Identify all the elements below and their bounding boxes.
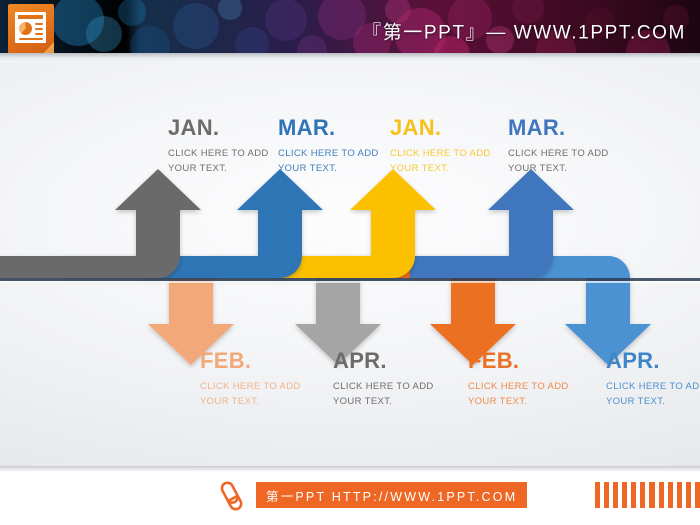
pen-icon	[217, 480, 245, 512]
logo-text-line	[19, 38, 43, 40]
footer-stripes	[595, 482, 700, 508]
footer-stripe	[604, 482, 609, 508]
month-label: FEB.	[200, 350, 301, 372]
description-line-1: CLICK HERE TO ADD	[168, 147, 269, 162]
logo-text-line	[35, 28, 43, 30]
description-line-1: CLICK HERE TO ADD	[278, 147, 379, 162]
footer-stripe	[686, 482, 691, 508]
slide-body: JAN. CLICK HERE TO ADD YOUR TEXT. MAR. C…	[0, 62, 700, 466]
banner-title: 『第一PPT』— WWW.1PPT.COM	[362, 18, 686, 45]
description-line-2: YOUR TEXT.	[200, 395, 301, 410]
arrow-up-1-gray	[0, 169, 201, 278]
arrow-up-4-blue	[410, 169, 574, 278]
timeline-label-bottom-1[interactable]: FEB. CLICK HERE TO ADD YOUR TEXT.	[200, 350, 301, 409]
footer-stripe	[668, 482, 673, 508]
description-line-2: YOUR TEXT.	[390, 162, 491, 177]
footer-url-label: 第一PPT HTTP://WWW.1PPT.COM	[256, 482, 527, 508]
timeline-label-top-1[interactable]: JAN. CLICK HERE TO ADD YOUR TEXT.	[168, 117, 269, 176]
logo-card	[15, 12, 46, 43]
baseline-highlight	[0, 281, 700, 283]
footer-stripe	[640, 482, 645, 508]
description-line-2: YOUR TEXT.	[278, 162, 379, 177]
description-line-1: CLICK HERE TO ADD	[508, 147, 609, 162]
footer-stripe	[595, 482, 600, 508]
footer-stripe	[622, 482, 627, 508]
footer-stripe	[659, 482, 664, 508]
footer-divider	[0, 466, 700, 472]
description-line-1: CLICK HERE TO ADD	[390, 147, 491, 162]
description-line-1: CLICK HERE TO ADD	[468, 380, 569, 395]
footer-stripe	[649, 482, 654, 508]
baseline-rule	[0, 278, 700, 281]
description-line-2: YOUR TEXT.	[606, 395, 700, 410]
month-label: APR.	[333, 350, 434, 372]
description-line-1: CLICK HERE TO ADD	[606, 380, 700, 395]
logo-pie-chart	[19, 22, 32, 35]
month-label: MAR.	[508, 117, 609, 139]
timeline-label-top-3[interactable]: JAN. CLICK HERE TO ADD YOUR TEXT.	[390, 117, 491, 176]
month-label: APR.	[606, 350, 700, 372]
timeline-label-bottom-2[interactable]: APR. CLICK HERE TO ADD YOUR TEXT.	[333, 350, 434, 409]
description-line-2: YOUR TEXT.	[508, 162, 609, 177]
footer-stripe	[677, 482, 682, 508]
description-line-1: CLICK HERE TO ADD	[200, 380, 301, 395]
banner-divider	[0, 53, 700, 62]
footer-stripe	[613, 482, 618, 508]
logo-text-line	[35, 23, 43, 25]
timeline-label-bottom-3[interactable]: FEB. CLICK HERE TO ADD YOUR TEXT.	[468, 350, 569, 409]
footer-stripe	[695, 482, 700, 508]
description-line-1: CLICK HERE TO ADD	[333, 380, 434, 395]
month-label: FEB.	[468, 350, 569, 372]
top-banner: 『第一PPT』— WWW.1PPT.COM	[0, 0, 700, 62]
powerpoint-document-icon	[8, 4, 54, 56]
month-label: MAR.	[278, 117, 379, 139]
logo-header-bar	[18, 15, 43, 19]
month-label: JAN.	[390, 117, 491, 139]
description-line-2: YOUR TEXT.	[333, 395, 434, 410]
timeline-label-top-2[interactable]: MAR. CLICK HERE TO ADD YOUR TEXT.	[278, 117, 379, 176]
description-line-2: YOUR TEXT.	[168, 162, 269, 177]
footer-bar: 第一PPT HTTP://WWW.1PPT.COM	[0, 466, 700, 525]
description-line-2: YOUR TEXT.	[468, 395, 569, 410]
month-label: JAN.	[168, 117, 269, 139]
slide-canvas: 『第一PPT』— WWW.1PPT.COM	[0, 0, 700, 525]
timeline-label-top-4[interactable]: MAR. CLICK HERE TO ADD YOUR TEXT.	[508, 117, 609, 176]
footer-stripe	[631, 482, 636, 508]
logo-text-line	[35, 33, 43, 35]
timeline-label-bottom-4[interactable]: APR. CLICK HERE TO ADD YOUR TEXT.	[606, 350, 700, 409]
